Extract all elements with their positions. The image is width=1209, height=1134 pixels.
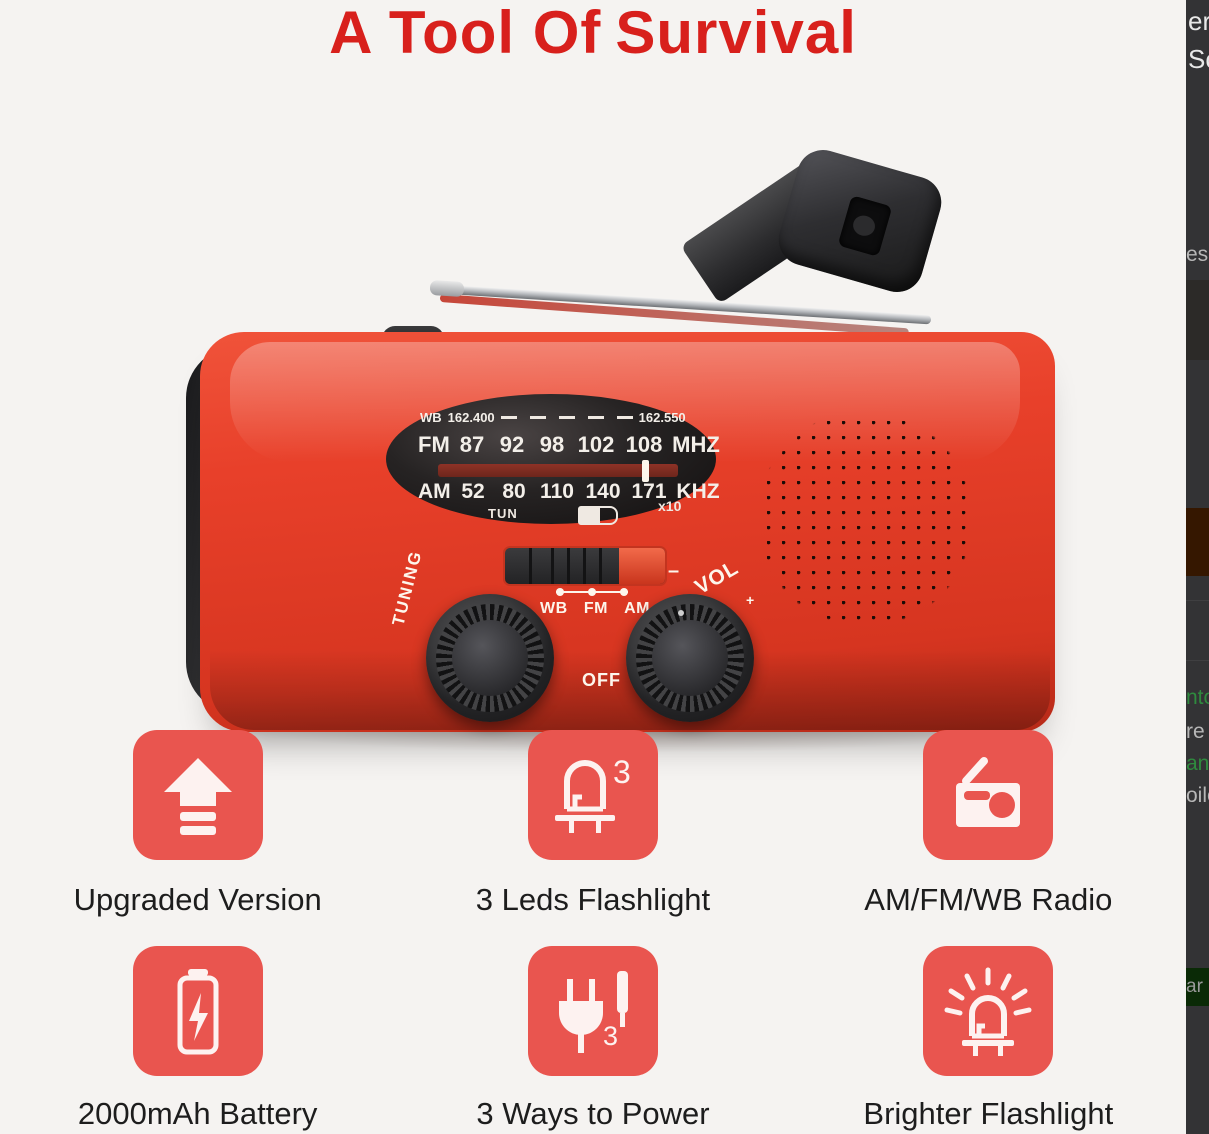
feature-label: Upgraded Version bbox=[74, 882, 322, 918]
dial-fm-unit: MHZ bbox=[668, 432, 724, 458]
slide-switch-knob[interactable] bbox=[619, 548, 665, 584]
panel-status-badge[interactable]: ar bbox=[1186, 968, 1209, 1006]
battery-indicator-icon bbox=[578, 506, 618, 525]
tuning-knob[interactable] bbox=[426, 594, 554, 722]
page-title: A Tool OfSurvival bbox=[0, 0, 1186, 67]
feature-am-fm-wb-radio: AM/FM/WB Radio bbox=[791, 730, 1186, 918]
feature-tile: 3 bbox=[528, 946, 658, 1076]
tuning-dial-scale: WB 162.400 162.550 FM 87 92 98 102 108 M… bbox=[396, 402, 706, 516]
dial-tuner-label: TUN bbox=[488, 506, 518, 521]
antenna-tip bbox=[430, 280, 465, 297]
dial-am-tick-2: 110 bbox=[534, 480, 580, 504]
page-title-part2: Survival bbox=[615, 0, 856, 66]
dial-am-tick-3: 140 bbox=[580, 480, 626, 504]
dial-wb-end: 162.550 bbox=[639, 410, 686, 425]
feature-3-leds-flashlight: 3 3 Leds Flashlight bbox=[395, 730, 790, 918]
dial-fm-tick-3: 102 bbox=[572, 432, 620, 458]
svg-text:3: 3 bbox=[613, 754, 631, 790]
dial-weatherband-row: WB 162.400 162.550 bbox=[396, 410, 730, 425]
feature-tile: 3 bbox=[528, 730, 658, 860]
feature-row-1: Upgraded Version 3 3 Leds Flashlight bbox=[0, 730, 1186, 918]
feature-tile bbox=[923, 946, 1053, 1076]
led-bulb-icon: 3 bbox=[547, 753, 639, 837]
panel-text-fragment-4: nto bbox=[1186, 686, 1209, 710]
battery-bolt-icon bbox=[168, 965, 228, 1057]
dial-am-multiplier: x10 bbox=[658, 498, 681, 514]
page-title-part1: A Tool Of bbox=[329, 0, 601, 66]
dial-fm-tick-1: 92 bbox=[492, 432, 532, 458]
feature-label: 3 Leds Flashlight bbox=[476, 882, 710, 918]
feature-label: 2000mAh Battery bbox=[78, 1096, 318, 1132]
svg-text:3: 3 bbox=[603, 1021, 618, 1051]
panel-divider bbox=[1186, 600, 1209, 601]
dial-fm-tick-4: 108 bbox=[620, 432, 668, 458]
dial-needle[interactable] bbox=[642, 460, 649, 482]
panel-text-fragment-3: es bbox=[1186, 243, 1208, 267]
feature-tile bbox=[133, 946, 263, 1076]
panel-text-fragment-6: ant bbox=[1186, 752, 1209, 776]
feature-grid: Upgraded Version 3 3 Leds Flashlight bbox=[0, 730, 1186, 1132]
dial-fm-row: FM 87 92 98 102 108 MHZ bbox=[396, 432, 728, 458]
panel-block-dark bbox=[1186, 280, 1209, 360]
volume-knob-pointer bbox=[678, 610, 684, 616]
upgrade-arrow-icon bbox=[158, 752, 238, 838]
beacon-light-icon bbox=[942, 966, 1034, 1056]
feature-row-2: 2000mAh Battery 3 3 Ways to Power bbox=[0, 946, 1186, 1132]
feature-label: Brighter Flashlight bbox=[863, 1096, 1113, 1132]
band-selector-dots bbox=[556, 588, 628, 598]
dial-am-tick-0: 52 bbox=[452, 480, 494, 504]
dial-wb-start: 162.400 bbox=[448, 410, 495, 425]
dial-am-label: AM bbox=[418, 480, 452, 504]
feature-tile bbox=[923, 730, 1053, 860]
side-app-panel[interactable]: er So es nto re ant oile ar bbox=[1186, 0, 1209, 1134]
feature-tile bbox=[133, 730, 263, 860]
feature-label: AM/FM/WB Radio bbox=[864, 882, 1112, 918]
volume-knob[interactable] bbox=[626, 594, 754, 722]
volume-minus-label: – bbox=[668, 560, 679, 583]
radio-icon bbox=[944, 753, 1032, 837]
band-selector-labels: WB FM AM bbox=[540, 600, 650, 618]
band-slide-switch[interactable] bbox=[503, 546, 667, 586]
feature-brighter-flashlight: Brighter Flashlight bbox=[791, 946, 1186, 1132]
feature-upgraded-version: Upgraded Version bbox=[0, 730, 395, 918]
feature-3-ways-to-power: 3 3 Ways to Power bbox=[395, 946, 790, 1132]
dial-fm-tick-0: 87 bbox=[452, 432, 492, 458]
dial-fm-label: FM bbox=[418, 432, 452, 458]
panel-block-amber[interactable] bbox=[1186, 508, 1209, 576]
off-position-label: OFF bbox=[582, 670, 621, 691]
product-hero-image: WB 162.400 162.550 FM 87 92 98 102 108 M… bbox=[0, 70, 1186, 710]
dial-am-tick-1: 80 bbox=[494, 480, 534, 504]
dial-wb-label: WB bbox=[420, 410, 442, 425]
panel-text-fragment-2: So bbox=[1188, 44, 1209, 75]
panel-text-fragment-5: re bbox=[1186, 720, 1205, 744]
power-plug-icon: 3 bbox=[547, 965, 639, 1057]
dial-wb-ticks bbox=[501, 416, 633, 419]
speaker-grille bbox=[752, 406, 978, 632]
panel-text-fragment-7: oile bbox=[1186, 784, 1209, 808]
panel-divider bbox=[1186, 660, 1209, 661]
product-image-panel: A Tool OfSurvival WB 162.400 162.550 FM bbox=[0, 0, 1186, 1134]
dial-fm-tick-2: 98 bbox=[532, 432, 572, 458]
volume-plus-label: + bbox=[746, 592, 754, 608]
band-label-wb: WB bbox=[540, 600, 568, 618]
band-label-fm: FM bbox=[584, 600, 608, 618]
feature-label: 3 Ways to Power bbox=[476, 1096, 709, 1132]
panel-text-fragment-1: er bbox=[1188, 6, 1209, 37]
feature-2000mah-battery: 2000mAh Battery bbox=[0, 946, 395, 1132]
